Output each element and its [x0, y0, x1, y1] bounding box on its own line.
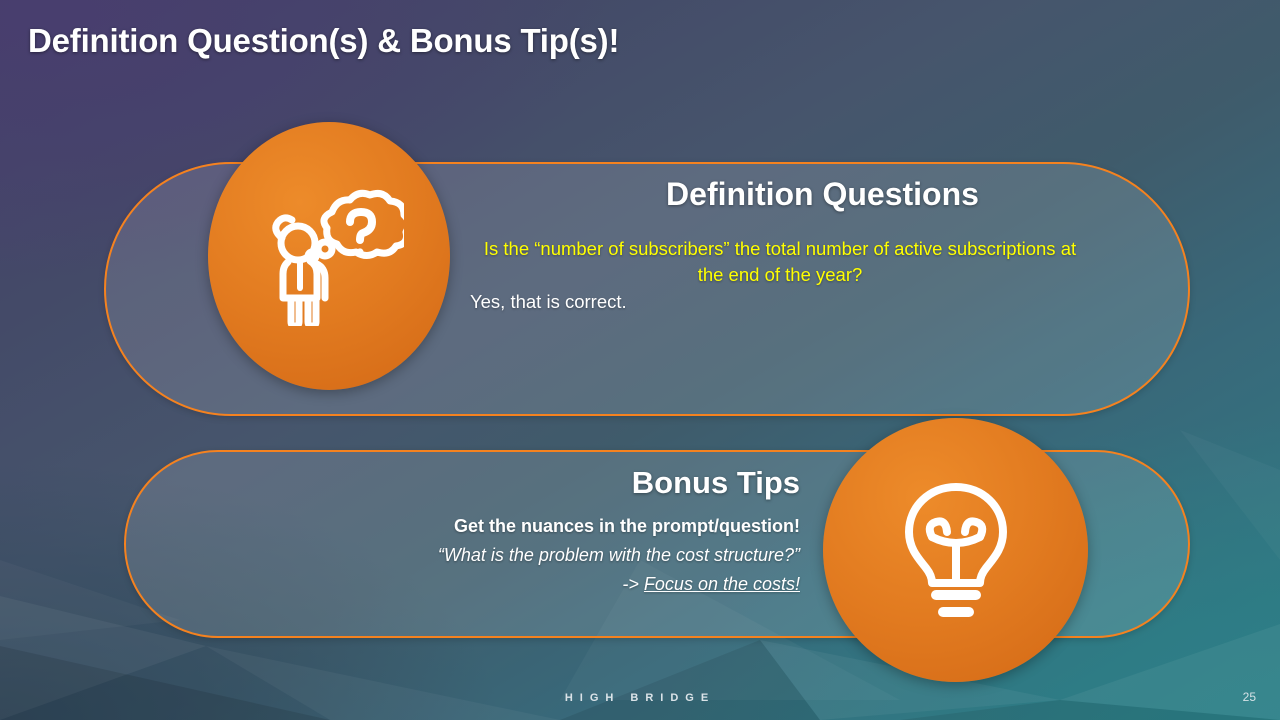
- bonus-tip-line-3: -> Focus on the costs!: [180, 570, 800, 599]
- definition-question-text: Is the “number of subscribers” the total…: [470, 236, 1090, 288]
- bonus-tips-lines: Get the nuances in the prompt/question! …: [180, 512, 800, 599]
- definition-questions-heading: Definition Questions: [455, 176, 1190, 213]
- bonus-tip-line-1: Get the nuances in the prompt/question!: [180, 512, 800, 541]
- thinking-person-icon: [254, 186, 404, 326]
- bonus-tip-line-2: “What is the problem with the cost struc…: [180, 541, 800, 570]
- lightbulb-badge: [823, 418, 1088, 682]
- bonus-tips-heading: Bonus Tips: [200, 465, 800, 501]
- page-title: Definition Question(s) & Bonus Tip(s)!: [28, 22, 619, 60]
- thinking-person-badge: [208, 122, 450, 390]
- definition-answer-text: Yes, that is correct.: [470, 291, 1090, 313]
- bonus-tip-emphasis: Focus on the costs!: [644, 574, 800, 594]
- bonus-tip-arrow: ->: [622, 574, 644, 594]
- footer-brand: HIGH BRIDGE: [0, 692, 1280, 704]
- page-number: 25: [1243, 690, 1256, 704]
- lightbulb-icon: [891, 475, 1021, 625]
- slide-canvas: Definition Question(s) & Bonus Tip(s)!: [0, 0, 1280, 720]
